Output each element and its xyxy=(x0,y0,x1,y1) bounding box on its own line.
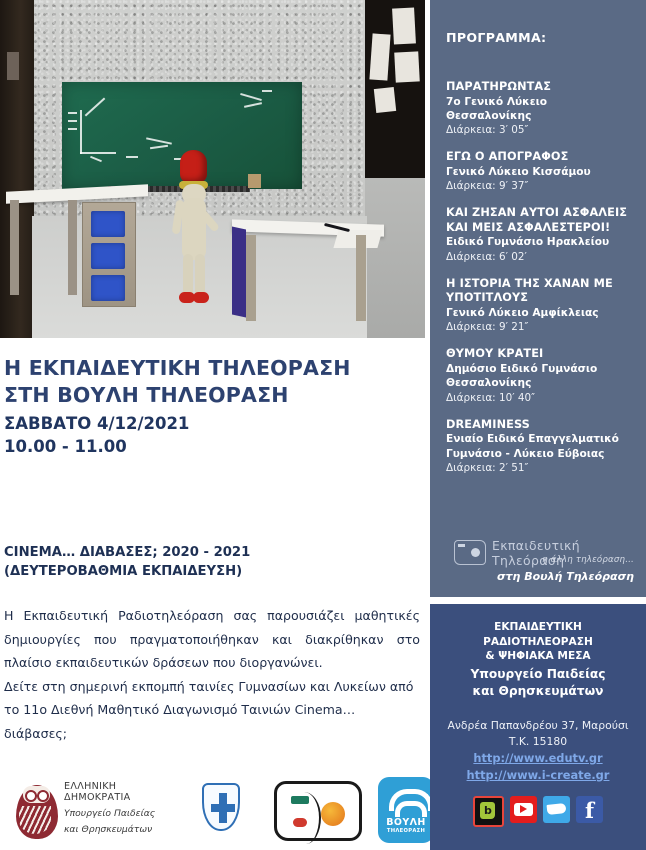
section-heading: CINEMA… ΔΙΑΒΑΣΕΣ; 2020 - 2021 (ΔΕΥΤΕΡΟΒΑ… xyxy=(4,543,424,581)
program-panel: ΠΡΟΓΡΑΜΜΑ: ΠΑΡΑΤΗΡΩΝΤΑΣ 7ο Γενικό Λύκειο… xyxy=(430,0,646,597)
social-links: b f xyxy=(430,796,646,827)
desk-left xyxy=(6,188,148,310)
organization-name: ΕΚΠΑΙΔΕΥΤΙΚΗ ΡΑΔΙΟΤΗΛΕΟΡΑΣΗ & ΨΗΦΙΑΚΑ ΜΕ… xyxy=(440,620,636,664)
facebook-icon[interactable]: f xyxy=(576,796,603,823)
title-line-2: ΣΤΗ ΒΟΥΛΗ ΤΗΛΕΟΡΑΣΗ xyxy=(4,382,424,409)
program-item: DREAMINESS Ενιαίο Ειδικό Επαγγελματικό Γ… xyxy=(446,418,636,476)
organization-line-2: & ΨΗΦΙΑΚΑ ΜΕΣΑ xyxy=(440,649,636,664)
photo-block xyxy=(248,174,261,188)
program-duration: Διάρκεια: 9′ 37″ xyxy=(446,179,636,193)
brand-channel: στη Βουλή Τηλεόραση xyxy=(470,570,634,583)
desk-right xyxy=(232,222,384,332)
program-title: ΘΥΜΟΥ ΚΡΑΤΕΙ xyxy=(446,347,636,362)
postal-address: Ανδρέα Παπανδρέου 37, Μαρούσι Τ.Κ. 15180 xyxy=(440,718,636,750)
website-links: http://www.edutv.gr http://www.i-create.… xyxy=(440,750,636,783)
program-duration: Διάρκεια: 6′ 02′ xyxy=(446,250,636,264)
description-paragraph-2: Δείτε στη σημερινή εκπομπή ταινίες Γυμνα… xyxy=(4,675,420,746)
program-title: DREAMINESS xyxy=(446,418,636,433)
address-line-1: Ανδρέα Παπανδρέου 37, Μαρούσι xyxy=(440,718,636,734)
program-title: ΚΑΙ ΖΗΣΑΝ ΑΥΤΟΙ ΑΣΦΑΛΕΙΣ ΚΑΙ ΜΕΙΣ ΑΣΦΑΛΕ… xyxy=(446,206,636,235)
blogger-icon[interactable]: b xyxy=(473,796,504,827)
republic-line-3: και Θρησκευμάτων xyxy=(64,824,184,835)
program-school: Ενιαίο Ειδικό Επαγγελματικό Γυμνάσιο - Λ… xyxy=(446,432,636,461)
footer-logo-row: ΕΛΛΗΝΙΚΗ ΔΗΜΟΚΡΑΤΙΑ Υπουργείο Παιδείας κ… xyxy=(6,775,426,847)
program-title: ΕΓΩ Ο ΑΠΟΓΡΑΦΟΣ xyxy=(446,150,636,165)
educational-tv-logo-icon xyxy=(268,777,364,843)
program-school: Ειδικό Γυμνάσιο Ηρακλείου xyxy=(446,235,636,249)
program-item: ΕΓΩ Ο ΑΠΟΓΡΑΦΟΣ Γενικό Λύκειο Κισσάμου Δ… xyxy=(446,150,636,193)
republic-line-2: Υπουργείο Παιδείας xyxy=(64,808,184,819)
program-item: ΠΑΡΑΤΗΡΩΝΤΑΣ 7ο Γενικό Λύκειο Θεσσαλονίκ… xyxy=(446,80,636,138)
poster-page: Η ΕΚΠΑΙΔΕΥΤΙΚΗ ΤΗΛΕΟΡΑΣΗ ΣΤΗ ΒΟΥΛΗ ΤΗΛΕΟ… xyxy=(0,0,646,850)
photo-wall-notes xyxy=(369,6,421,116)
broadcast-date: ΣΑΒΒΑΤΟ 4/12/2021 xyxy=(4,412,424,435)
program-title: ΠΑΡΑΤΗΡΩΝΤΑΣ xyxy=(446,80,636,95)
contact-panel: ΕΚΠΑΙΔΕΥΤΙΚΗ ΡΑΔΙΟΤΗΛΕΟΡΑΣΗ & ΨΗΦΙΑΚΑ ΜΕ… xyxy=(430,604,646,850)
program-item: ΚΑΙ ΖΗΣΑΝ ΑΥΤΟΙ ΑΣΦΑΛΕΙΣ ΚΑΙ ΜΕΙΣ ΑΣΦΑΛΕ… xyxy=(446,206,636,264)
broadcast-time: 10.00 - 11.00 xyxy=(4,435,424,458)
hellenic-republic-logo-text: ΕΛΛΗΝΙΚΗ ΔΗΜΟΚΡΑΤΙΑ Υπουργείο Παιδείας κ… xyxy=(64,781,184,835)
icreate-website-link[interactable]: http://www.i-create.gr xyxy=(440,767,636,784)
edutv-website-link[interactable]: http://www.edutv.gr xyxy=(440,750,636,767)
program-duration: Διάρκεια: 3′ 05″ xyxy=(446,123,636,137)
left-column: Η ΕΚΠΑΙΔΕΥΤΙΚΗ ΤΗΛΕΟΡΑΣΗ ΣΤΗ ΒΟΥΛΗ ΤΗΛΕΟ… xyxy=(0,0,430,850)
title-line-1: Η ΕΚΠΑΙΔΕΥΤΙΚΗ ΤΗΛΕΟΡΑΣΗ xyxy=(4,355,424,382)
classroom-photo xyxy=(0,0,425,338)
youtube-icon[interactable] xyxy=(510,796,537,823)
brand-strip: Εκπαιδευτική Τηλεόραση η άλλη τηλεόραση…… xyxy=(430,534,646,597)
program-school: Γενικό Λύκειο Κισσάμου xyxy=(446,165,636,179)
program-item: Η ΙΣΤΟΡΙΑ ΤΗΣ ΧΑΝΑΝ ΜΕ ΥΠΟΤΙΤΛΟΥΣ Γενικό… xyxy=(446,277,636,335)
address-line-2: Τ.Κ. 15180 xyxy=(440,734,636,750)
ministry-line-1: Υπουργείο Παιδείας xyxy=(440,666,636,683)
vouli-tv-logo-icon: ΒΟΥΛΗ ΤΗΛΕΟΡΑΣΗ xyxy=(378,777,434,843)
ministry-name: Υπουργείο Παιδείας και Θρησκευμάτων xyxy=(440,666,636,700)
program-school: Δημόσιο Ειδικό Γυμνάσιο Θεσσαλονίκης xyxy=(446,362,636,391)
photo-dark-corner xyxy=(365,0,425,178)
ministry-line-2: και Θρησκευμάτων xyxy=(440,683,636,700)
program-duration: Διάρκεια: 2′ 51″ xyxy=(446,461,636,475)
section-line-2: (ΔΕΥΤΕΡΟΒΑΘΜΙΑ ΕΚΠΑΙΔΕΥΣΗ) xyxy=(4,562,424,581)
edutv-tv-icon xyxy=(454,540,488,566)
program-school: 7ο Γενικό Λύκειο Θεσσαλονίκης xyxy=(446,95,636,124)
vouli-label-2: ΤΗΛΕΟΡΑΣΗ xyxy=(378,828,434,834)
description-paragraph-1: Η Εκπαιδευτική Ραδιοτηλεόραση σας παρουσ… xyxy=(4,604,420,675)
greek-coat-of-arms-icon xyxy=(198,781,240,837)
broadcast-schedule: ΣΑΒΒΑΤΟ 4/12/2021 10.00 - 11.00 xyxy=(4,412,424,458)
description-text: Η Εκπαιδευτική Ραδιοτηλεόραση σας παρουσ… xyxy=(4,604,420,745)
owl-icon xyxy=(14,779,62,841)
brand-tagline: η άλλη τηλεόραση… xyxy=(492,555,634,565)
clay-figure xyxy=(174,150,214,312)
twitter-icon[interactable] xyxy=(543,796,570,823)
republic-line-1: ΕΛΛΗΝΙΚΗ ΔΗΜΟΚΡΑΤΙΑ xyxy=(64,781,184,803)
page-title: Η ΕΚΠΑΙΔΕΥΤΙΚΗ ΤΗΛΕΟΡΑΣΗ ΣΤΗ ΒΟΥΛΗ ΤΗΛΕΟ… xyxy=(4,355,424,409)
program-list: ΠΑΡΑΤΗΡΩΝΤΑΣ 7ο Γενικό Λύκειο Θεσσαλονίκ… xyxy=(446,80,636,488)
program-school: Γενικό Λύκειο Αμφίκλειας xyxy=(446,306,636,320)
section-line-1: CINEMA… ΔΙΑΒΑΣΕΣ; 2020 - 2021 xyxy=(4,543,424,562)
program-heading: ΠΡΟΓΡΑΜΜΑ: xyxy=(446,30,546,45)
program-duration: Διάρκεια: 9′ 21″ xyxy=(446,320,636,334)
organization-line-1: ΕΚΠΑΙΔΕΥΤΙΚΗ ΡΑΔΙΟΤΗΛΕΟΡΑΣΗ xyxy=(440,620,636,649)
program-title: Η ΙΣΤΟΡΙΑ ΤΗΣ ΧΑΝΑΝ ΜΕ ΥΠΟΤΙΤΛΟΥΣ xyxy=(446,277,636,306)
vouli-label-1: ΒΟΥΛΗ xyxy=(378,817,434,828)
program-item: ΘΥΜΟΥ ΚΡΑΤΕΙ Δημόσιο Ειδικό Γυμνάσιο Θεσ… xyxy=(446,347,636,405)
program-duration: Διάρκεια: 10′ 40″ xyxy=(446,391,636,405)
